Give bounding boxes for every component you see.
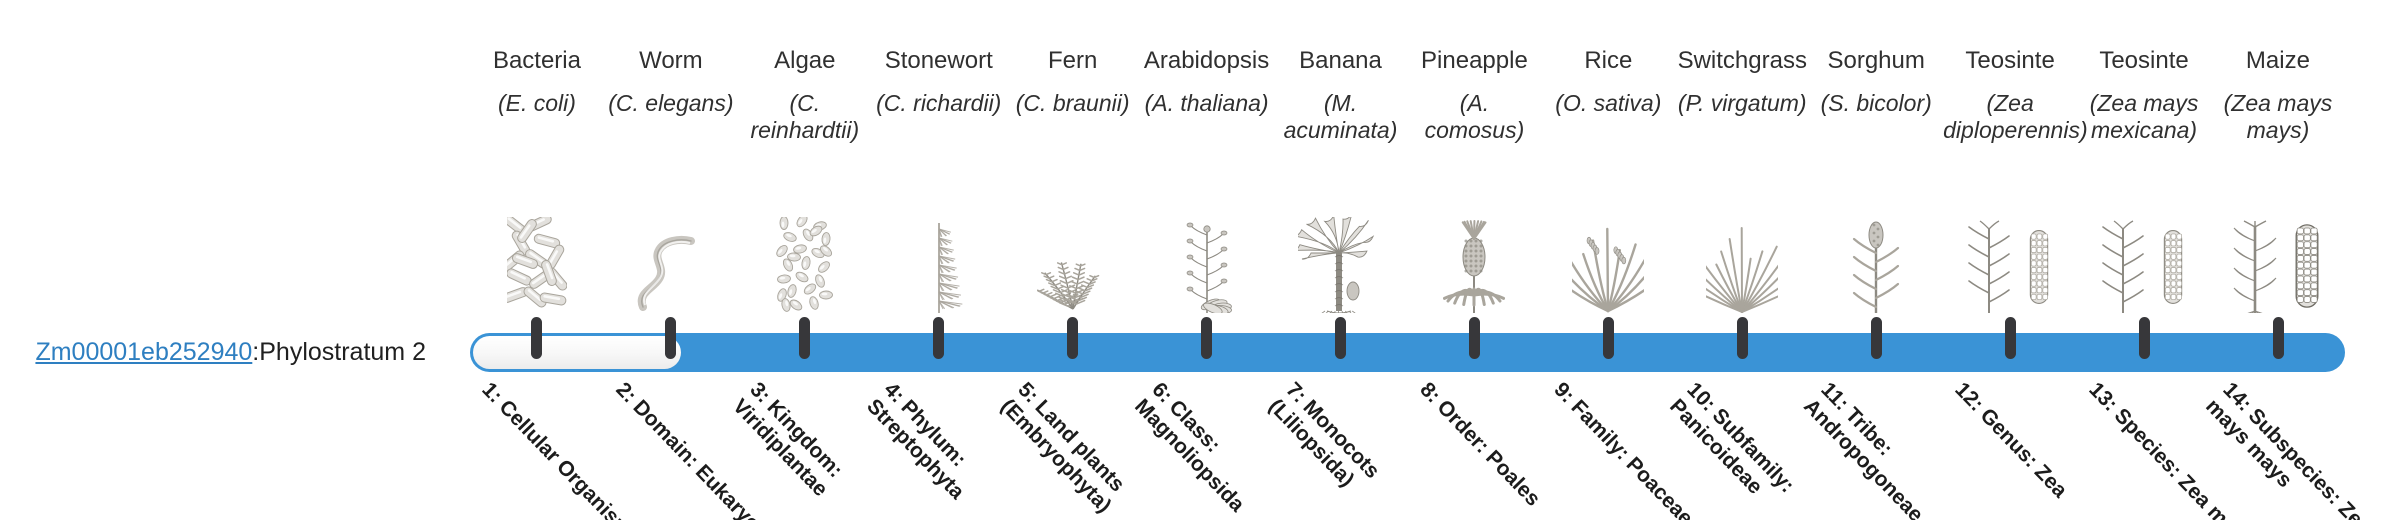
organism-latin-name: (Zea diploperennis) <box>1943 90 2077 144</box>
organism-column: Maize (Zea mays mays) <box>2211 48 2345 313</box>
organism-common-name: Stonewort <box>885 48 993 73</box>
phylostratum-chart: Zm00001eb252940: Phylostratum 2 Bacteria… <box>0 0 2400 520</box>
organism-latin-name: (S. bicolor) <box>1821 90 1932 117</box>
organism-common-name: Arabidopsis <box>1144 48 1269 73</box>
rank-text: Cellular Organisms <box>495 396 645 520</box>
organism-common-name: Maize <box>2246 48 2310 73</box>
rank-text: Land plants (Embryophyta) <box>996 395 1129 518</box>
rank-text: Subfamily: Panicoideae <box>1665 395 1799 499</box>
organism-common-name: Rice <box>1584 48 1632 73</box>
organism-common-name: Banana <box>1299 48 1382 73</box>
slider-track[interactable] <box>470 333 2345 372</box>
rank-text: Kingdom: Viridiplantae <box>728 395 847 501</box>
bacteria-illustration <box>470 213 604 313</box>
rank-text: Genus: Zea <box>1976 404 2072 502</box>
teosinte-illustration <box>1943 213 2077 313</box>
organism-column: Worm (C. elegans) <box>604 48 738 313</box>
rank-number: 12: <box>1951 378 1989 416</box>
organism-latin-name: (A. comosus) <box>1407 90 1541 144</box>
gene-row-label: Zm00001eb252940: Phylostratum 2 <box>40 333 440 372</box>
slider-tick[interactable] <box>1067 317 1078 359</box>
organism-latin-name: (C. braunii) <box>1016 90 1130 117</box>
rank-text: Phylum: Streptophyta <box>862 395 971 504</box>
organism-column: Stonewort (C. richardii) <box>872 48 1006 313</box>
organism-latin-name: (M. acuminata) <box>1274 90 1408 144</box>
organism-common-name: Fern <box>1048 48 1097 73</box>
organism-latin-name: (Zea mays mays) <box>2211 90 2345 144</box>
organism-column: Switchgrass (P. virgatum) <box>1675 48 1809 313</box>
organism-common-name: Algae <box>774 48 835 73</box>
organism-column: Arabidopsis (A. thaliana) <box>1140 48 1274 313</box>
teosinte-illustration <box>2077 213 2211 313</box>
organism-latin-name: (O. sativa) <box>1555 90 1661 117</box>
organism-latin-name: (E. coli) <box>498 90 576 117</box>
organism-column: Sorghum (S. bicolor) <box>1809 48 1943 313</box>
slider-tick[interactable] <box>2273 317 2284 359</box>
label-separator: : <box>252 338 259 367</box>
organism-column: Bacteria (E. coli) <box>470 48 604 313</box>
sorghum-illustration <box>1809 213 1943 313</box>
pineapple-illustration <box>1407 213 1541 313</box>
rank-labels: 1: Cellular Organisms2: Domain: Eukaryot… <box>470 372 2345 520</box>
banana-illustration <box>1274 213 1408 313</box>
rank-number: 13: <box>2085 378 2123 416</box>
slider-tick[interactable] <box>1871 317 1882 359</box>
organism-common-name: Sorghum <box>1827 48 1924 73</box>
organism-common-name: Worm <box>639 48 703 73</box>
organism-column: Pineapple (A. comosus) <box>1407 48 1541 313</box>
algae-illustration <box>738 213 872 313</box>
organism-column: Rice (O. sativa) <box>1541 48 1675 313</box>
rank-text: Subspecies: Zea mays mays <box>2201 395 2375 520</box>
rice-illustration <box>1541 213 1675 313</box>
organism-latin-name: (C. elegans) <box>608 90 733 117</box>
maize-illustration <box>2211 213 2345 313</box>
organism-column: Fern (C. braunii) <box>1006 48 1140 313</box>
organism-common-name: Switchgrass <box>1678 48 1807 73</box>
slider-tick[interactable] <box>1201 317 1212 359</box>
slider-tick[interactable] <box>799 317 810 359</box>
organism-common-name: Pineapple <box>1421 48 1528 73</box>
organism-column: Algae (C. reinhardtii) <box>738 48 872 313</box>
slider-tick[interactable] <box>1469 317 1480 359</box>
stonewort-illustration <box>872 213 1006 313</box>
organism-common-name: Teosinte <box>2099 48 2188 73</box>
switchgrass-illustration <box>1675 213 1809 313</box>
phylostratum-slider[interactable] <box>470 333 2345 372</box>
organism-common-name: Teosinte <box>1965 48 2054 73</box>
fern-illustration <box>1006 213 1140 313</box>
organism-latin-name: (C. reinhardtii) <box>738 90 872 144</box>
rank-text: Monocots (Liliopsida) <box>1264 395 1384 492</box>
slider-tick[interactable] <box>665 317 676 359</box>
arabidopsis-illustration <box>1140 213 1274 313</box>
worm-illustration <box>604 213 738 313</box>
slider-tick[interactable] <box>1603 317 1614 359</box>
organism-column: Teosinte (Zea mays mexicana) <box>2077 48 2211 313</box>
slider-tick[interactable] <box>933 317 944 359</box>
slider-tick[interactable] <box>1335 317 1346 359</box>
slider-tick[interactable] <box>2005 317 2016 359</box>
organism-common-name: Bacteria <box>493 48 581 73</box>
organism-column: Teosinte (Zea diploperennis) <box>1943 48 2077 313</box>
rank-text: Class: Magnoliopsida <box>1130 395 1249 517</box>
organism-latin-name: (P. virgatum) <box>1678 90 1807 117</box>
organism-latin-name: (Zea mays mexicana) <box>2077 90 2211 144</box>
phylostratum-status: Phylostratum 2 <box>259 338 426 367</box>
rank-text: Order: Poales <box>1432 396 1544 511</box>
gene-id-link[interactable]: Zm00001eb252940 <box>35 338 252 367</box>
slider-tick[interactable] <box>531 317 542 359</box>
organism-column: Banana (M. acuminata) <box>1274 48 1408 313</box>
slider-tick[interactable] <box>1737 317 1748 359</box>
organism-latin-name: (C. richardii) <box>876 90 1001 117</box>
rank-label: 14: Subspecies: Zea mays mays <box>2200 378 2395 520</box>
slider-unfilled-segment <box>473 336 681 369</box>
organism-latin-name: (A. thaliana) <box>1145 90 1269 117</box>
organism-columns: Bacteria (E. coli) <box>470 48 2345 313</box>
slider-tick[interactable] <box>2139 317 2150 359</box>
